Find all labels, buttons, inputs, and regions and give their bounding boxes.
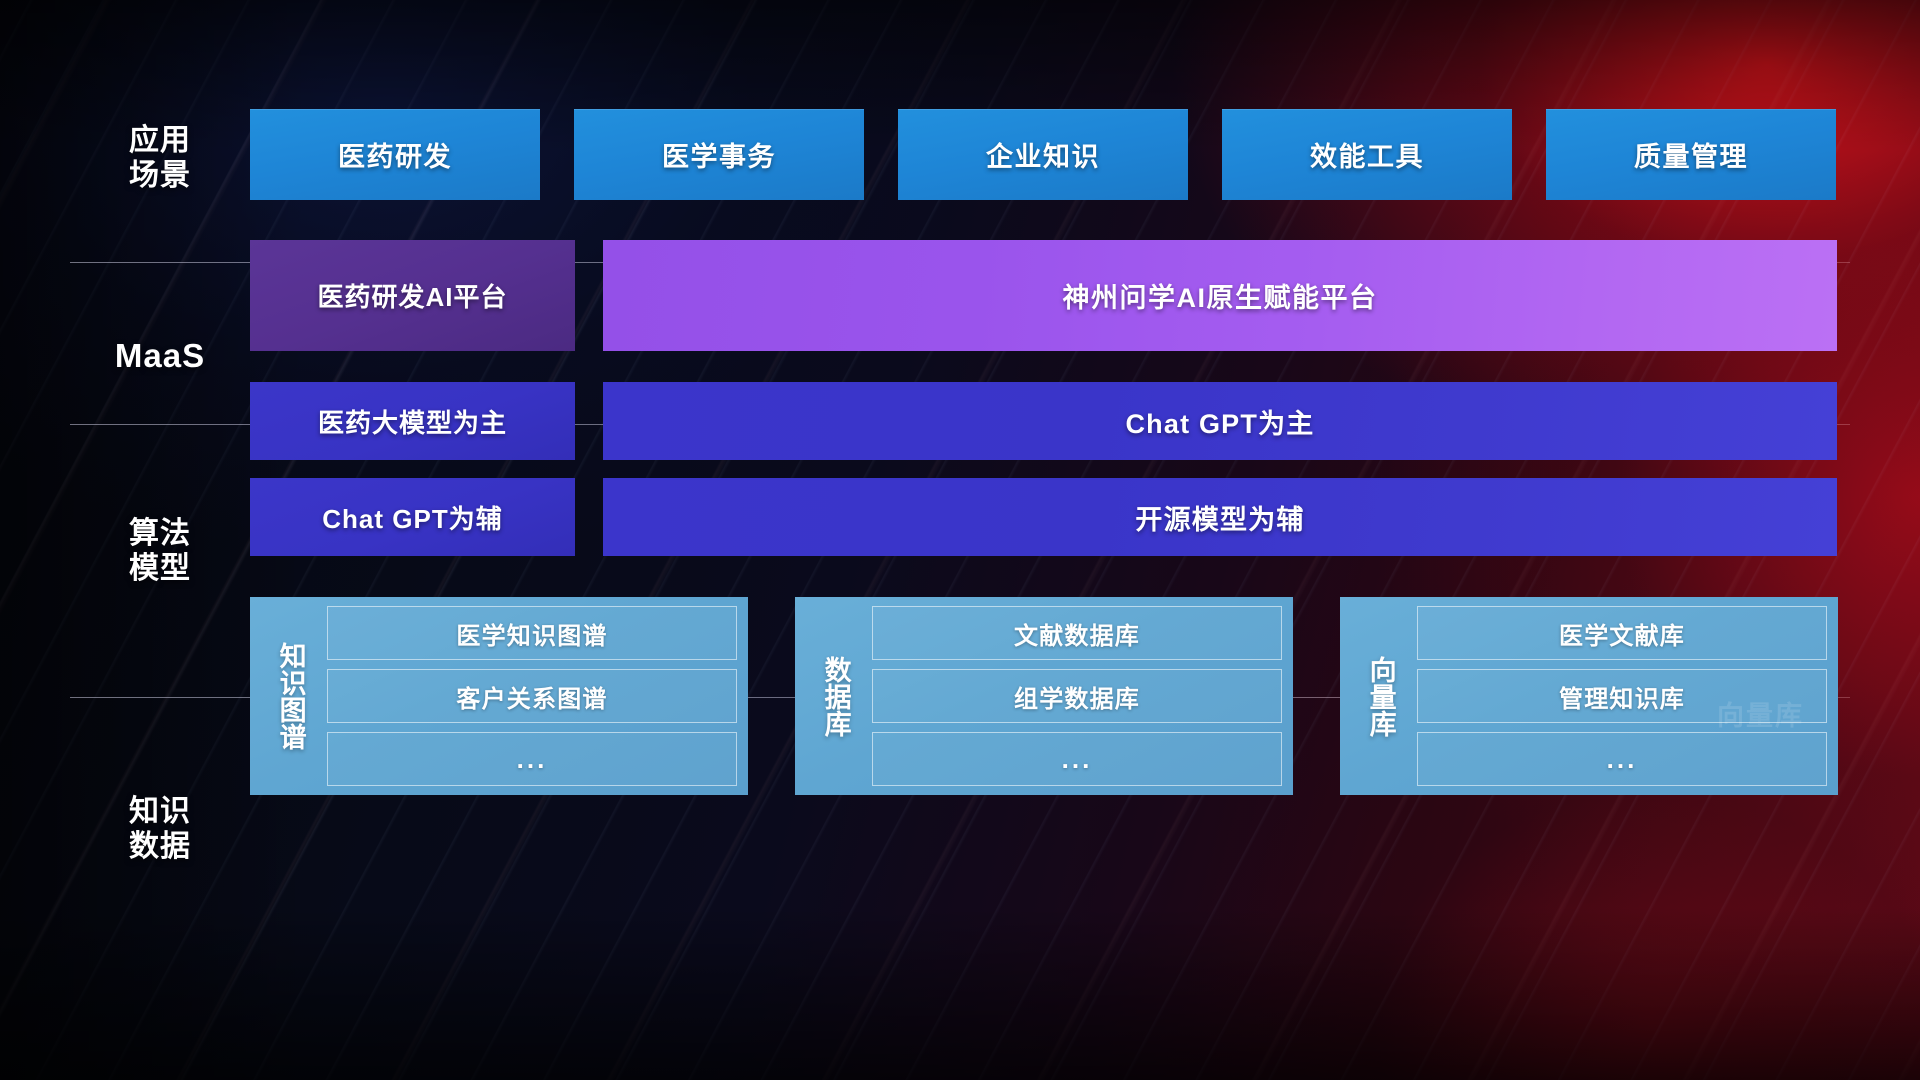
algo-label-chatgpt-secondary: Chat GPT为辅: [322, 499, 502, 536]
maas-label-shenzhou-wenxue-platform: 神州问学AI原生赋能平台: [1063, 276, 1378, 315]
knowledge-chip-3-3[interactable]: ...: [1417, 732, 1827, 786]
app-scenario-label-3: 企业知识: [986, 135, 1100, 174]
app-scenario-box-3[interactable]: 企业知识: [898, 109, 1188, 200]
tier-label-line-1: 应用: [94, 124, 226, 159]
knowledge-card-knowledge-graph[interactable]: 知识图谱 医学知识图谱 客户关系图谱 ...: [250, 597, 748, 795]
tier-label-knowledge-data: 知识 数据: [94, 795, 226, 865]
app-scenario-label-1: 医药研发: [338, 135, 452, 174]
algo-label-pharma-large-model: 医药大模型为主: [318, 403, 507, 440]
knowledge-card-3-items: 医学文献库 管理知识库 ...: [1411, 606, 1827, 786]
algo-box-opensource-secondary[interactable]: 开源模型为辅: [603, 478, 1837, 556]
knowledge-chip-1-2[interactable]: 客户关系图谱: [327, 669, 737, 723]
knowledge-chip-1-3[interactable]: ...: [327, 732, 737, 786]
app-scenario-box-2[interactable]: 医学事务: [574, 109, 864, 200]
slide-canvas: 应用 场景 医药研发 医学事务 企业知识 效能工具 质量管理 MaaS 医药研发…: [0, 0, 1920, 1080]
algo-label-opensource-secondary: 开源模型为辅: [1135, 498, 1304, 537]
knowledge-card-vector-store[interactable]: 向量库 医学文献库 管理知识库 ... 向量库: [1340, 597, 1838, 795]
maas-box-shenzhou-wenxue-platform[interactable]: 神州问学AI原生赋能平台: [603, 240, 1837, 351]
knowledge-chip-2-2[interactable]: 组学数据库: [872, 669, 1282, 723]
app-scenario-box-4[interactable]: 效能工具: [1222, 109, 1512, 200]
tier-label-algo-line-1: 算法: [94, 517, 226, 552]
knowledge-chip-2-3[interactable]: ...: [872, 732, 1282, 786]
maas-label-pharma-ai-platform: 医药研发AI平台: [317, 277, 507, 314]
app-scenario-label-4: 效能工具: [1310, 135, 1424, 174]
app-scenario-label-2: 医学事务: [662, 135, 776, 174]
knowledge-card-2-vertical-label: 数据库: [804, 606, 866, 786]
knowledge-card-database[interactable]: 数据库 文献数据库 组学数据库 ...: [795, 597, 1293, 795]
knowledge-card-1-items: 医学知识图谱 客户关系图谱 ...: [321, 606, 737, 786]
knowledge-card-2-items: 文献数据库 组学数据库 ...: [866, 606, 1282, 786]
tier-label-application-scenarios: 应用 场景: [94, 124, 226, 194]
knowledge-card-3-vertical-label: 向量库: [1349, 606, 1411, 786]
algo-label-chatgpt-primary: Chat GPT为主: [1125, 402, 1314, 441]
app-scenario-label-5: 质量管理: [1634, 135, 1748, 174]
algo-box-chatgpt-primary[interactable]: Chat GPT为主: [603, 382, 1837, 460]
app-scenario-box-1[interactable]: 医药研发: [250, 109, 540, 200]
tier-label-algo-line-2: 模型: [94, 552, 226, 587]
tier-label-maas: MaaS: [94, 337, 226, 375]
tier-label-algorithm-models: 算法 模型: [94, 517, 226, 587]
tier-label-kd-line-2: 数据: [94, 830, 226, 865]
knowledge-chip-3-2[interactable]: 管理知识库: [1417, 669, 1827, 723]
knowledge-chip-2-1[interactable]: 文献数据库: [872, 606, 1282, 660]
knowledge-card-1-vertical-label: 知识图谱: [259, 606, 321, 786]
tier-label-maas-text: MaaS: [94, 337, 226, 375]
knowledge-chip-3-1[interactable]: 医学文献库: [1417, 606, 1827, 660]
app-scenario-box-5[interactable]: 质量管理: [1546, 109, 1836, 200]
knowledge-chip-1-1[interactable]: 医学知识图谱: [327, 606, 737, 660]
maas-box-pharma-ai-platform[interactable]: 医药研发AI平台: [250, 240, 575, 351]
tier-label-line-2: 场景: [94, 159, 226, 194]
algo-box-pharma-large-model[interactable]: 医药大模型为主: [250, 382, 575, 460]
tier-label-kd-line-1: 知识: [94, 795, 226, 830]
algo-box-chatgpt-secondary[interactable]: Chat GPT为辅: [250, 478, 575, 556]
